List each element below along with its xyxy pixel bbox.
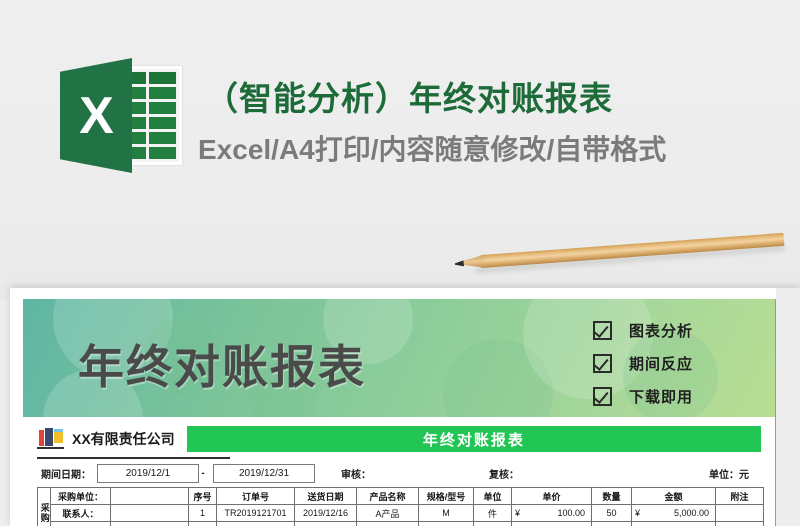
cell-delivery-date: 2019/12/16 [295,522,357,526]
pencil-illustration [454,231,785,277]
period-end-input[interactable]: 2019/12/31 [213,464,315,483]
report-title-text: 年终对账报表 [423,429,525,450]
promo-subtitle: Excel/A4打印/内容随意修改/自带格式 [198,128,666,168]
feature-checklist: 图表分析 期间反应 下载即用 [593,317,743,416]
cell-price: ¥ 100.00 [512,505,592,522]
cell-note [716,505,764,522]
table-header-cell: 金额 [632,488,716,505]
order-table[interactable]: 采购 采购单位： 序号 订单号 送货日期 产品名称 规格/型号 单位 单价 数量… [37,487,764,526]
checklist-label: 期间反应 [629,353,693,374]
report-big-title: 年终对账报表 [78,331,366,397]
promo-header: X （智能分析）年终对账报表 Excel/A4打印/内容随意修改/自带格式 [0,0,800,300]
table-header-row: 采购 采购单位： 序号 订单号 送货日期 产品名称 规格/型号 单位 单价 数量… [38,488,764,505]
buyer-field-input[interactable] [111,522,189,526]
company-header-row: XX有限责任公司 年终对账报表 [23,423,775,455]
checklist-item[interactable]: 期间反应 [593,350,743,377]
excel-logo-letter: X [60,58,132,173]
cell-product: A产品 [357,522,419,526]
table-header-cell: 送货日期 [295,488,357,505]
buyer-field-label: 联系地址： [51,522,111,526]
buyer-field-label: 联系人： [51,505,111,522]
document-page: 年终对账报表 图表分析 期间反应 下载即用 [23,299,775,526]
cell-unit: 件 [474,522,512,526]
cell-qty: 50 [592,505,632,522]
table-header-cell: 单价 [512,488,592,505]
cell-note [716,522,764,526]
spreadsheet-area[interactable]: XX有限责任公司 年终对账报表 期间日期： 2019/12/1 - 2019/1… [23,417,775,526]
cell-price: ¥ 100.00 [512,522,592,526]
amount-value: 5,000.00 [674,508,713,518]
unit-note: 单位：元 [709,466,749,481]
checklist-item[interactable]: 下载即用 [593,383,743,410]
company-books-icon [37,427,64,451]
cell-unit: 件 [474,505,512,522]
period-start-input[interactable]: 2019/12/1 [97,464,199,483]
checkbox-checked-icon[interactable] [593,354,612,373]
cell-amount: ¥ 5,000.00 [632,505,716,522]
price-value: 100.00 [557,508,589,518]
buyer-vertical-label: 采购 [38,488,51,526]
table-header-cell: 订单号 [217,488,295,505]
table-header-cell: 规格/型号 [419,488,474,505]
auditor-label: 审核： [341,466,371,481]
buyer-field-label: 采购单位： [51,488,111,505]
table-row[interactable]: 联系地址： 2 TR2019121702 2019/12/16 A产品 M 件 … [38,522,764,526]
table-header-cell: 单位 [474,488,512,505]
document-preview[interactable]: 年终对账报表 图表分析 期间反应 下载即用 [10,288,800,526]
buyer-field-input[interactable] [111,505,189,522]
cell-no: 1 [189,505,217,522]
table-header-cell: 附注 [716,488,764,505]
table-header-cell: 数量 [592,488,632,505]
promo-title: （智能分析）年终对账报表 [205,72,613,120]
checklist-item[interactable]: 图表分析 [593,317,743,344]
table-header-cell: 序号 [189,488,217,505]
cell-order-no: TR2019121702 [217,522,295,526]
table-header-cell: 产品名称 [357,488,419,505]
cell-spec: M [419,522,474,526]
checklist-label: 下载即用 [629,386,693,407]
company-name: XX有限责任公司 [72,429,175,449]
reviewer-label: 复核： [489,466,519,481]
excel-logo-icon: X [60,58,182,173]
checkbox-checked-icon[interactable] [593,321,612,340]
cell-spec: M [419,505,474,522]
cell-delivery-date: 2019/12/16 [295,505,357,522]
cell-product: A产品 [357,505,419,522]
buyer-field-input[interactable] [111,488,189,505]
cell-qty: 50 [592,522,632,526]
checkbox-checked-icon[interactable] [593,387,612,406]
cell-amount: ¥ 5,000.00 [632,522,716,526]
report-title-bar: 年终对账报表 [187,426,761,452]
meta-row: 期间日期： 2019/12/1 - 2019/12/31 审核： 复核： 单位：… [23,459,775,487]
checklist-label: 图表分析 [629,320,693,341]
pencil-tip [455,260,464,267]
currency-symbol: ¥ [515,508,520,518]
report-banner: 年终对账报表 图表分析 期间反应 下载即用 [23,299,775,417]
period-separator: - [199,468,207,479]
period-label: 期间日期： [41,466,91,481]
preview-right-margin [776,288,800,526]
table-row[interactable]: 联系人： 1 TR2019121701 2019/12/16 A产品 M 件 ¥… [38,505,764,522]
currency-symbol: ¥ [635,508,640,518]
cell-no: 2 [189,522,217,526]
cell-order-no: TR2019121701 [217,505,295,522]
